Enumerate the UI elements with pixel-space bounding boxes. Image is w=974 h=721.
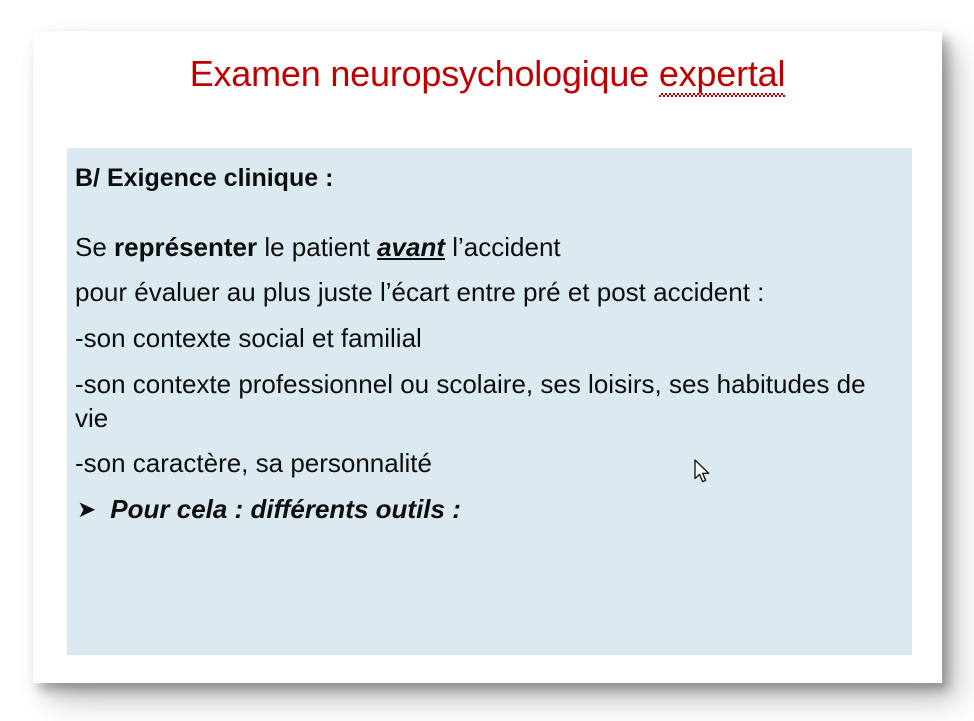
arrow-bullet-icon: ➤ [77,499,96,522]
body-text-block: B/ Exigence clinique : Se représenter le… [75,162,894,527]
page-title-text: Examen neuropsychologique [190,53,659,94]
bullet-contexte-professionnel: -son contexte professionnel ou scolaire,… [75,368,894,436]
paragraph-pour-cela: ➤ Pour cela : différents outils : [75,493,894,527]
content-panel: B/ Exigence clinique : Se représenter le… [67,148,912,655]
section-heading: B/ Exigence clinique : [75,162,894,195]
emphasis-avant: avant [377,232,445,262]
text-se: Se [75,232,114,262]
paragraph-evaluer: pour évaluer au plus juste l’écart entre… [75,276,894,310]
slide-card: Examen neuropsychologique expertal B/ Ex… [33,31,942,683]
blank-line-spacer [75,195,894,231]
text-le-patient: le patient [257,232,377,262]
bullet-caractere: -son caractère, sa personnalité [75,447,894,481]
paragraph-pour-cela-text: Pour cela : différents outils : [110,493,461,527]
bold-representer: représenter [114,232,257,262]
misspelled-word-expertal: expertal [659,53,785,95]
bullet-contexte-social: -son contexte social et familial [75,322,894,356]
paragraph-represent: Se représenter le patient avant l’accide… [75,231,894,265]
page-title: Examen neuropsychologique expertal [33,53,942,95]
slide-stage: Examen neuropsychologique expertal B/ Ex… [0,0,974,721]
text-laccident: l’accident [445,232,561,262]
